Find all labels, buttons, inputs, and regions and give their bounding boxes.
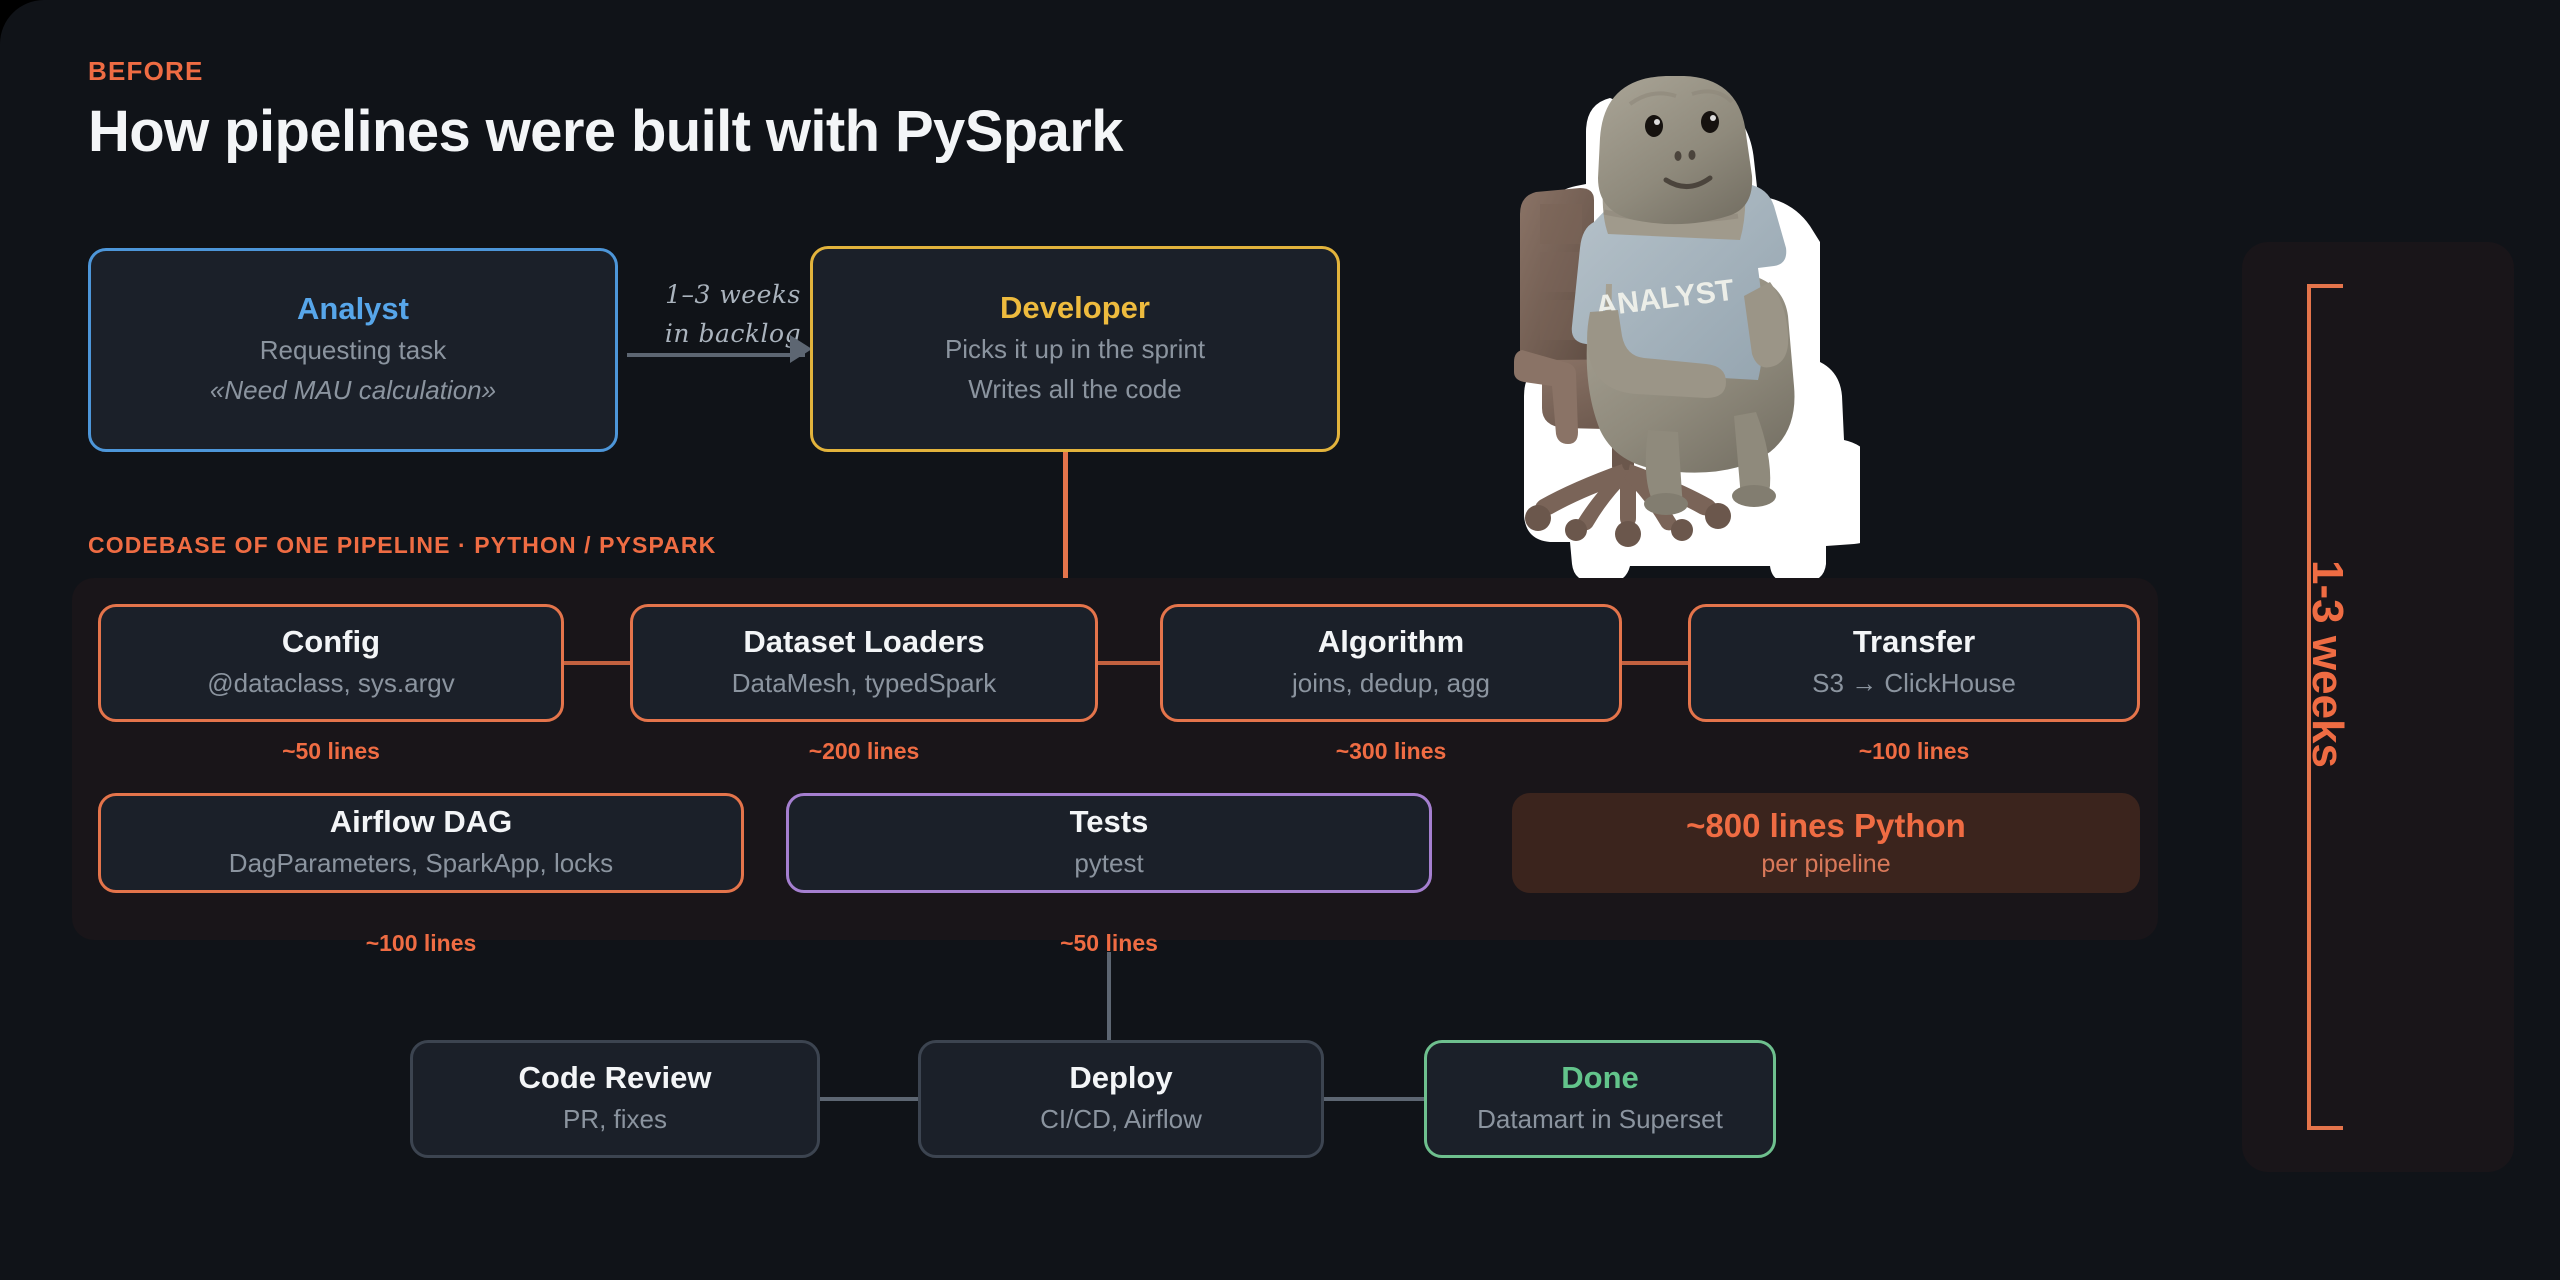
arrow-label-line1: 1–3 weeks (648, 276, 818, 315)
lines-label-algorithm: ~300 lines (1160, 738, 1622, 765)
connector-loaders-algorithm (1098, 661, 1160, 665)
node-airflow-dag-sub: DagParameters, SparkApp, locks (229, 847, 613, 881)
node-deploy-sub: CI/CD, Airflow (1040, 1103, 1202, 1137)
connector-tests-to-deploy (1107, 952, 1111, 1042)
connector-config-loaders (564, 661, 630, 665)
duration-label: 1-3 weeks (2302, 560, 2352, 768)
node-algorithm-sub: joins, dedup, agg (1292, 667, 1490, 701)
node-transfer-title: Transfer (1853, 625, 1975, 660)
node-analyst-sub2: «Need MAU calculation» (210, 374, 496, 408)
connector-developer-to-codebase (1063, 452, 1068, 584)
node-developer-sub1: Picks it up in the sprint (945, 333, 1205, 367)
total-lines-value: ~800 lines Python (1686, 807, 1966, 845)
node-algorithm-title: Algorithm (1318, 625, 1464, 660)
node-config-title: Config (282, 625, 380, 660)
node-developer-title: Developer (1000, 291, 1150, 326)
connector-review-deploy (820, 1097, 918, 1101)
node-tests[interactable]: Tests pytest (786, 793, 1432, 893)
node-done-sub: Datamart in Superset (1477, 1103, 1723, 1137)
connector-algorithm-transfer (1622, 661, 1688, 665)
lines-label-transfer: ~100 lines (1688, 738, 2140, 765)
node-developer[interactable]: Developer Picks it up in the sprint Writ… (810, 246, 1340, 452)
total-lines-caption: per pipeline (1761, 850, 1890, 879)
connector-deploy-done (1324, 1097, 1424, 1101)
node-transfer-sub: S3 → ClickHouse (1812, 667, 2016, 701)
node-config[interactable]: Config @dataclass, sys.argv (98, 604, 564, 722)
node-airflow-dag[interactable]: Airflow DAG DagParameters, SparkApp, loc… (98, 793, 744, 893)
node-deploy-title: Deploy (1069, 1061, 1172, 1096)
mascot-analyst-walrus: ANALYST (1470, 60, 1860, 590)
node-config-sub: @dataclass, sys.argv (207, 667, 454, 701)
node-dataset-loaders-sub: DataMesh, typedSpark (732, 667, 996, 701)
arrow-line (627, 353, 805, 357)
node-deploy[interactable]: Deploy CI/CD, Airflow (918, 1040, 1324, 1158)
node-done-title: Done (1561, 1061, 1639, 1096)
arrow-head-icon (790, 335, 812, 363)
duration-panel (2242, 242, 2514, 1172)
node-transfer[interactable]: Transfer S3 → ClickHouse (1688, 604, 2140, 722)
node-analyst-sub1: Requesting task (260, 334, 446, 368)
node-code-review-title: Code Review (519, 1061, 712, 1096)
node-code-review-sub: PR, fixes (563, 1103, 667, 1137)
mascot-eye-right (1701, 111, 1719, 133)
codebase-section-label: CODEBASE OF ONE PIPELINE · PYTHON / PYSP… (88, 532, 716, 559)
lines-label-config: ~50 lines (98, 738, 564, 765)
node-done[interactable]: Done Datamart in Superset (1424, 1040, 1776, 1158)
node-tests-sub: pytest (1074, 847, 1143, 881)
node-code-review[interactable]: Code Review PR, fixes (410, 1040, 820, 1158)
node-algorithm[interactable]: Algorithm joins, dedup, agg (1160, 604, 1622, 722)
node-developer-sub2: Writes all the code (968, 373, 1181, 407)
node-tests-title: Tests (1070, 805, 1149, 840)
lines-label-airflow-dag: ~100 lines (98, 930, 744, 957)
page-title: How pipelines were built with PySpark (88, 98, 1123, 165)
eyebrow-label: BEFORE (88, 56, 204, 87)
node-total-lines: ~800 lines Python per pipeline (1512, 793, 2140, 893)
lines-label-loaders: ~200 lines (630, 738, 1098, 765)
node-airflow-dag-title: Airflow DAG (330, 805, 513, 840)
node-analyst[interactable]: Analyst Requesting task «Need MAU calcul… (88, 248, 618, 452)
node-dataset-loaders-title: Dataset Loaders (743, 625, 984, 660)
slide-root: BEFORE How pipelines were built with PyS… (0, 0, 2560, 1280)
mascot-eye-left (1645, 115, 1663, 137)
node-analyst-title: Analyst (297, 292, 409, 327)
node-dataset-loaders[interactable]: Dataset Loaders DataMesh, typedSpark (630, 604, 1098, 722)
